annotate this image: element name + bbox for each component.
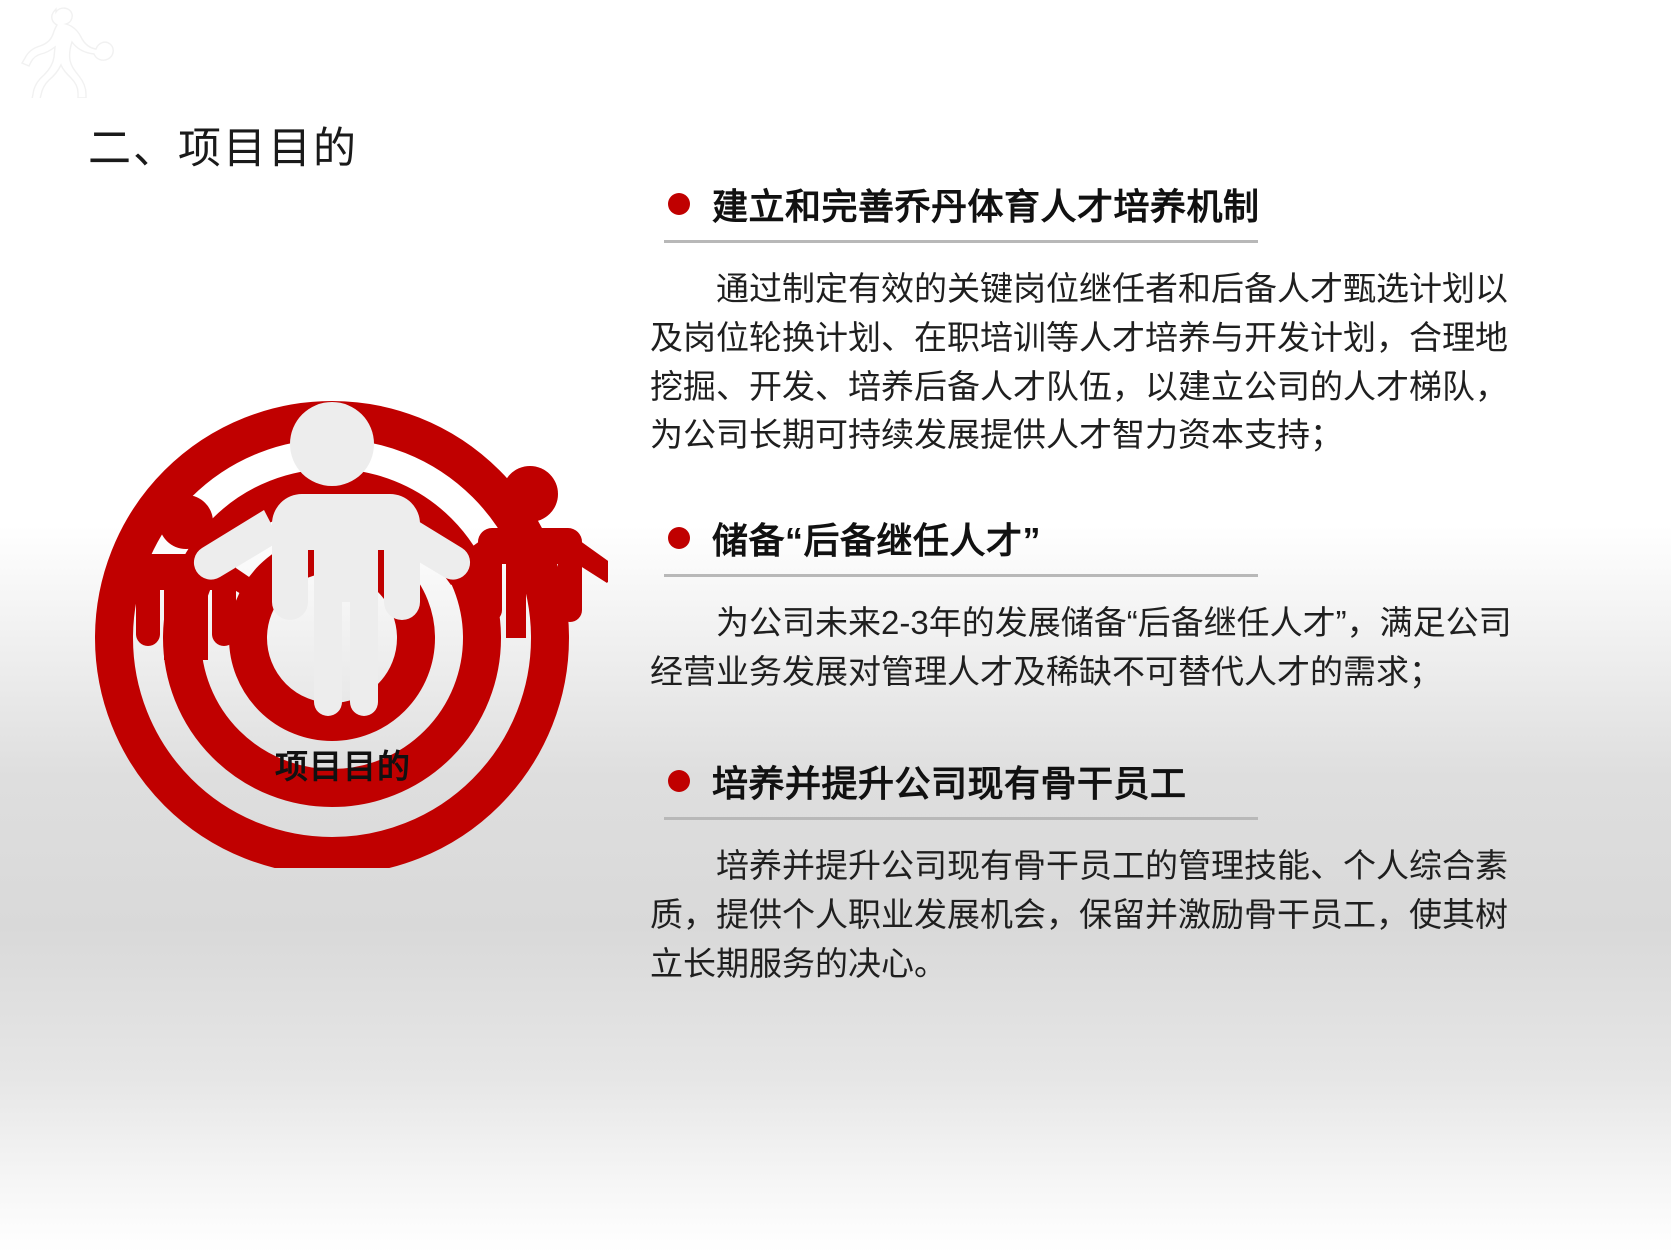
section-block-3: 培养并提升公司现有骨干员工 培养并提升公司现有骨干员工的管理技能、个人综合素质，… — [650, 755, 1550, 988]
page-title: 二、项目目的 — [88, 126, 358, 173]
target-rings-people-illustration: 项目目的 — [78, 348, 608, 868]
section-body-2: 为公司未来2-3年的发展储备“后备继任人才”，满足公司经营业务发展对管理人才及稀… — [650, 599, 1512, 697]
section-divider-2 — [664, 574, 1258, 577]
section-body-3: 培养并提升公司现有骨干员工的管理技能、个人综合素质，提供个人职业发展机会，保留并… — [650, 842, 1512, 988]
jordan-basketball-player-logo-icon — [14, 2, 122, 98]
section-heading-row-3: 培养并提升公司现有骨干员工 — [650, 755, 1550, 807]
section-heading-3: 培养并提升公司现有骨干员工 — [712, 755, 1187, 807]
section-divider-3 — [664, 817, 1258, 820]
section-heading-2: 储备“后备继任人才” — [712, 512, 1041, 564]
bullet-dot-icon — [668, 193, 690, 215]
bullet-dot-icon — [668, 527, 690, 549]
section-heading-row-1: 建立和完善乔丹体育人才培养机制 — [650, 178, 1550, 230]
section-block-1: 建立和完善乔丹体育人才培养机制 通过制定有效的关键岗位继任者和后备人才甄选计划以… — [650, 178, 1550, 460]
section-body-1: 通过制定有效的关键岗位继任者和后备人才甄选计划以及岗位轮换计划、在职培训等人才培… — [650, 265, 1512, 460]
section-block-2: 储备“后备继任人才” 为公司未来2-3年的发展储备“后备继任人才”，满足公司经营… — [650, 512, 1550, 697]
section-heading-row-2: 储备“后备继任人才” — [650, 512, 1550, 564]
content-column: 建立和完善乔丹体育人才培养机制 通过制定有效的关键岗位继任者和后备人才甄选计划以… — [650, 178, 1550, 1032]
bullet-dot-icon — [668, 770, 690, 792]
slide-canvas: 二、项目目的 — [0, 0, 1671, 1253]
section-heading-1: 建立和完善乔丹体育人才培养机制 — [712, 178, 1260, 230]
section-divider-1 — [664, 240, 1258, 243]
